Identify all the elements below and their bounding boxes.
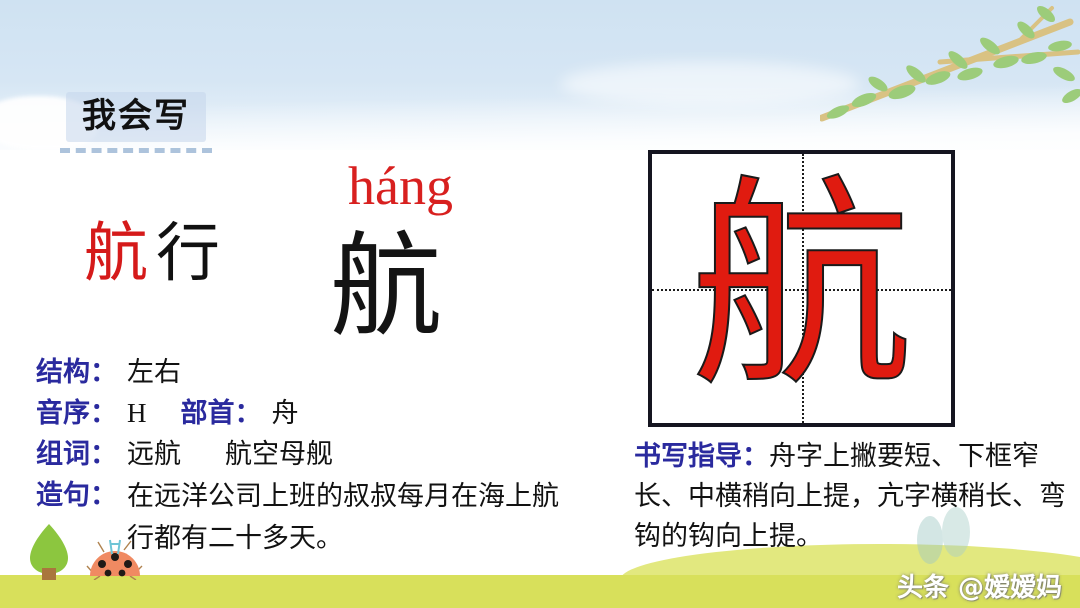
ladybug-decoration [84, 536, 146, 580]
writing-guidance: 书写指导：舟字上撇要短、下框窄长、中横稍向上提，亢字横稍长、弯钩的钩向上提。 [634, 436, 1072, 556]
sentence-label: 造句： [36, 475, 117, 516]
vocabulary-word: 航行 [84, 218, 220, 290]
info-row-structure: 结构： 左右 [36, 352, 616, 393]
target-character-display: 航 [330, 228, 442, 348]
words-label: 组词： [36, 434, 117, 475]
radical-value: 舟 [272, 393, 299, 434]
grid-character: 航 [652, 154, 951, 423]
sentence-value: 在远洋公司上班的叔叔每月在海上航行都有二十多天。 [127, 475, 567, 559]
writing-guidance-label: 书写指导： [634, 441, 769, 471]
radical-label: 部首： [181, 393, 262, 434]
section-title: 我会写 [66, 92, 206, 142]
slide-canvas: 我会写 航行 háng 航 结构： 左右 音序： H 部首： 舟 组词： 远航 … [0, 0, 1080, 608]
initial-label: 音序： [36, 393, 117, 434]
words-value-first: 远航 [127, 434, 181, 475]
tianzige-grid-box: 航 [648, 150, 955, 427]
initial-value: H [127, 393, 147, 434]
pinyin-label: háng [348, 156, 453, 216]
vocabulary-word-rest: 行 [156, 218, 220, 289]
tree-decoration [26, 522, 72, 580]
info-row-words: 组词： 远航 航空母舰 [36, 434, 616, 475]
words-value-second: 航空母舰 [225, 434, 333, 475]
vocabulary-word-target-char: 航 [84, 218, 148, 289]
section-title-text: 我会写 [82, 96, 190, 136]
info-row-initial-radical: 音序： H 部首： 舟 [36, 393, 616, 434]
structure-label: 结构： [36, 352, 117, 393]
structure-value: 左右 [127, 352, 181, 393]
character-info-list: 结构： 左右 音序： H 部首： 舟 组词： 远航 航空母舰 造句： 在远洋公司… [36, 352, 616, 559]
leaf-decoration [904, 506, 980, 566]
watermark: 头条 @嫒嫒妈 [897, 572, 1062, 604]
title-underline [60, 143, 212, 153]
branch-decoration [820, 0, 1080, 130]
